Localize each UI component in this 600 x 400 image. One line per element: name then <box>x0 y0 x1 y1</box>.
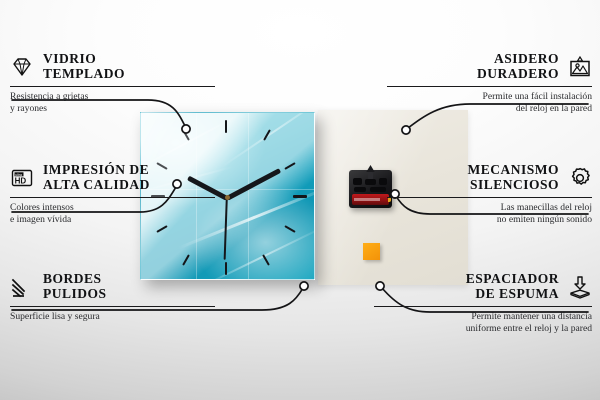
feature-asidero-duradero: ASIDERO DURADERO Permite una fácil insta… <box>387 52 592 114</box>
feature-title: VIDRIO TEMPLADO <box>43 52 125 81</box>
foam-spacer-icon <box>568 275 592 299</box>
feature-espaciador-de-espuma: ESPACIADOR DE ESPUMA Permite mantener un… <box>374 272 592 334</box>
feature-bordes-pulidos: BORDES PULIDOS Superficie lisa y segura <box>10 272 215 323</box>
infographic-canvas: VIDRIO TEMPLADO Resistencia a grietas y … <box>0 0 600 400</box>
polished-edges-icon <box>10 275 34 299</box>
feature-title: ASIDERO DURADERO <box>477 52 559 81</box>
feature-title: ESPACIADOR DE ESPUMA <box>466 272 559 301</box>
feature-title: IMPRESIÓN DE ALTA CALIDAD <box>43 163 150 192</box>
gear-icon <box>568 166 592 190</box>
feature-divider <box>10 306 215 307</box>
feature-title: MECANISMO SILENCIOSO <box>468 163 560 192</box>
feature-divider <box>387 86 592 87</box>
feature-divider <box>387 197 592 198</box>
feature-divider <box>10 197 215 198</box>
clock-minute-hand <box>226 168 281 201</box>
connector-dot-bordes <box>300 282 308 290</box>
hanging-frame-icon <box>568 55 592 79</box>
feature-divider <box>374 306 592 307</box>
foam-spacer-sample <box>363 243 380 260</box>
feature-divider <box>10 86 215 87</box>
feature-body: Resistencia a grietas y rayones <box>10 91 215 114</box>
battery <box>352 194 389 205</box>
feature-body: Permite mantener una distancia uniforme … <box>374 311 592 334</box>
feature-title: BORDES PULIDOS <box>43 272 107 301</box>
feature-vidrio-templado: VIDRIO TEMPLADO Resistencia a grietas y … <box>10 52 215 114</box>
svg-text:HD: HD <box>15 176 27 185</box>
feature-body: Colores intensos e imagen vívida <box>10 202 215 225</box>
clock-mechanism <box>349 170 392 208</box>
feature-impresion-alta-calidad: ultra HD IMPRESIÓN DE ALTA CALIDAD Color… <box>10 163 215 225</box>
feature-mecanismo-silencioso: MECANISMO SILENCIOSO Las manecillas del … <box>387 163 592 225</box>
feature-body: Permite una fácil instalación del reloj … <box>387 91 592 114</box>
ultra-hd-icon: ultra HD <box>10 166 34 190</box>
feature-body: Las manecillas del reloj no emiten ningú… <box>387 202 592 225</box>
clock-hub <box>225 195 230 200</box>
feature-body: Superficie lisa y segura <box>10 311 215 323</box>
diamond-icon <box>10 55 34 79</box>
